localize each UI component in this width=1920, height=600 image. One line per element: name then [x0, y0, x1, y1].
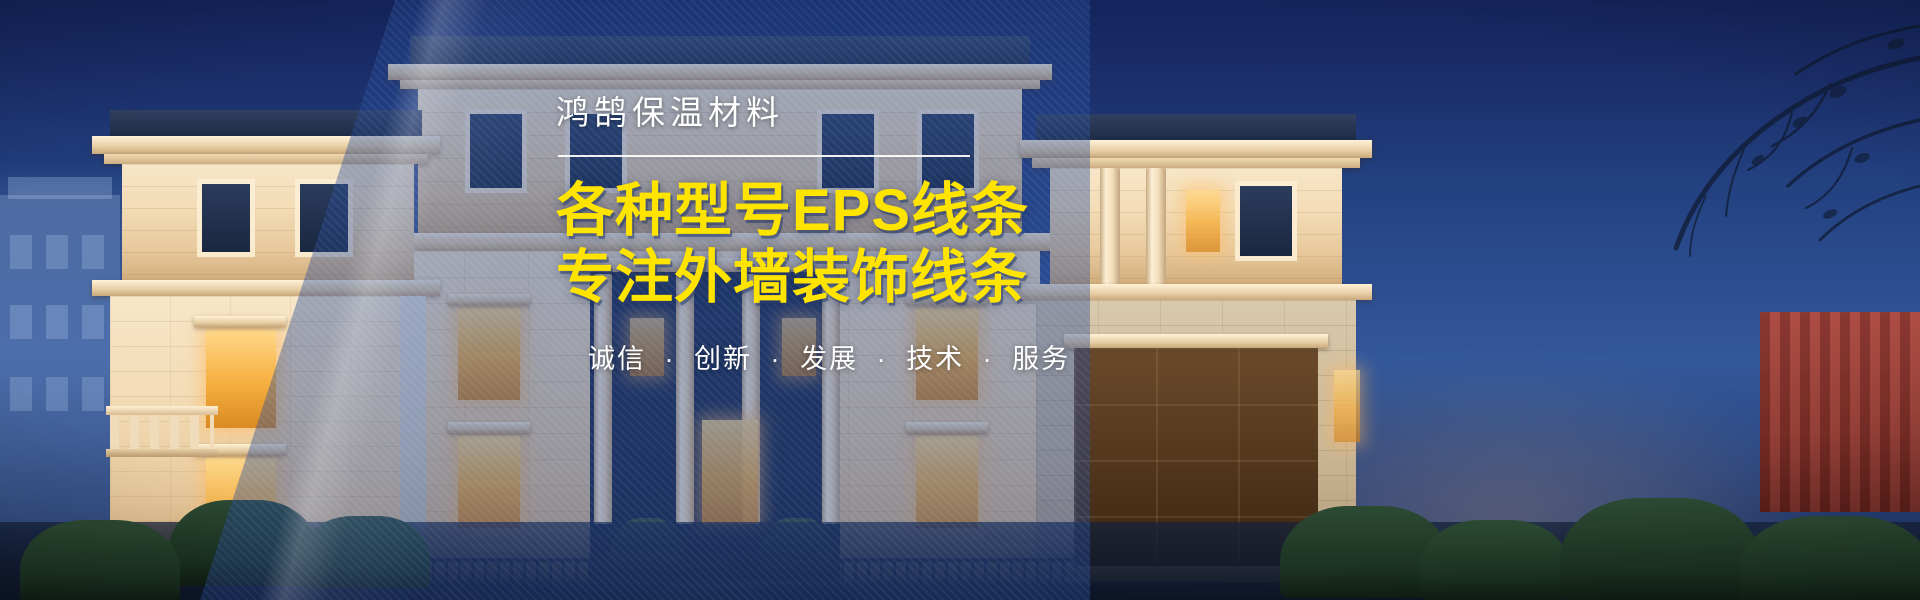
tagline-item-4: 技术: [906, 344, 964, 374]
tagline-item-1: 诚信: [588, 344, 646, 374]
tagline: 诚信 · 创新 · 发展 · 技术 · 服务: [588, 346, 1076, 373]
headline-line-2: 专注外墙装饰线条: [556, 244, 1076, 311]
brand-name: 鸿鹄保温材料: [556, 96, 1076, 129]
tagline-item-2: 创新: [694, 344, 752, 374]
divider-rule: [558, 155, 970, 157]
tagline-separator-2: ·: [762, 346, 791, 373]
tagline-separator-1: ·: [656, 346, 685, 373]
promo-banner: 鸿鹄保温材料 各种型号EPS线条 专注外墙装饰线条 诚信 · 创新 · 发展 ·…: [0, 0, 1920, 600]
shrub: [1740, 516, 1920, 600]
tagline-separator-3: ·: [868, 346, 897, 373]
red-shipping-container: [1760, 312, 1920, 512]
tagline-separator-4: ·: [974, 346, 1003, 373]
headline-line-1: 各种型号EPS线条: [556, 177, 1076, 244]
shrub: [1420, 520, 1570, 600]
banner-copy: 鸿鹄保温材料 各种型号EPS线条 专注外墙装饰线条 诚信 · 创新 · 发展 ·…: [556, 96, 1076, 373]
headline: 各种型号EPS线条 专注外墙装饰线条: [556, 177, 1076, 312]
tagline-item-5: 服务: [1012, 344, 1070, 374]
tagline-item-3: 发展: [800, 344, 858, 374]
shrub: [1560, 498, 1760, 600]
